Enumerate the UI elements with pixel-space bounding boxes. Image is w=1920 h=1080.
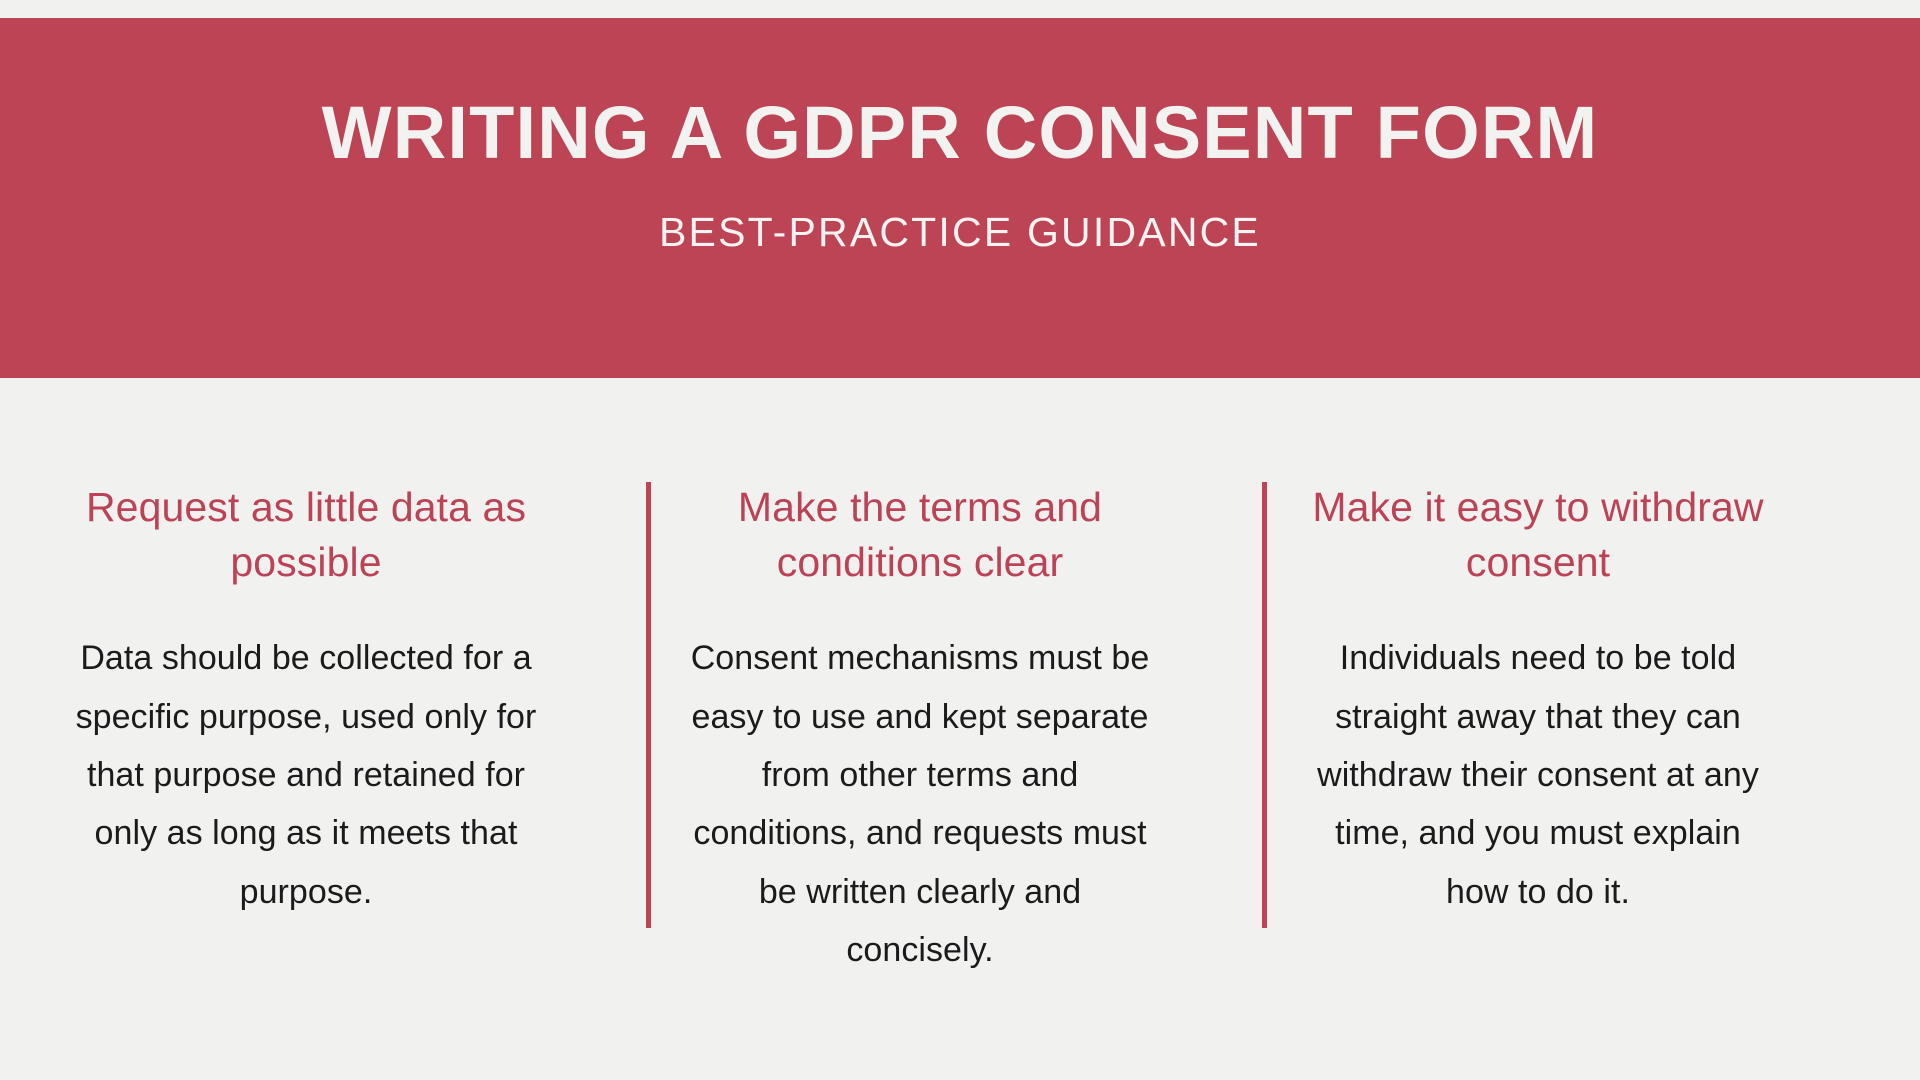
- guidance-column-3: Make it easy to withdraw consent Individ…: [1290, 378, 1786, 921]
- page-title: WRITING A GDPR CONSENT FORM: [322, 96, 1599, 170]
- column-divider-2: [1262, 482, 1267, 928]
- gdpr-consent-poster: WRITING A GDPR CONSENT FORM BEST-PRACTIC…: [0, 0, 1920, 1080]
- guidance-columns: Request as little data as possible Data …: [0, 378, 1920, 1080]
- column-2-body: Consent mechanisms must be easy to use a…: [685, 629, 1155, 980]
- column-2-heading: Make the terms and conditions clear: [672, 480, 1168, 589]
- column-1-heading: Request as little data as possible: [58, 480, 554, 589]
- column-divider-1: [646, 482, 651, 928]
- guidance-column-2: Make the terms and conditions clear Cons…: [672, 378, 1168, 980]
- page-subtitle: BEST-PRACTICE GUIDANCE: [659, 212, 1261, 253]
- column-3-body: Individuals need to be told straight awa…: [1303, 629, 1773, 921]
- column-1-body: Data should be collected for a specific …: [71, 629, 541, 921]
- poster-header-band: WRITING A GDPR CONSENT FORM BEST-PRACTIC…: [0, 18, 1920, 378]
- column-3-heading: Make it easy to withdraw consent: [1290, 480, 1786, 589]
- guidance-column-1: Request as little data as possible Data …: [58, 378, 554, 921]
